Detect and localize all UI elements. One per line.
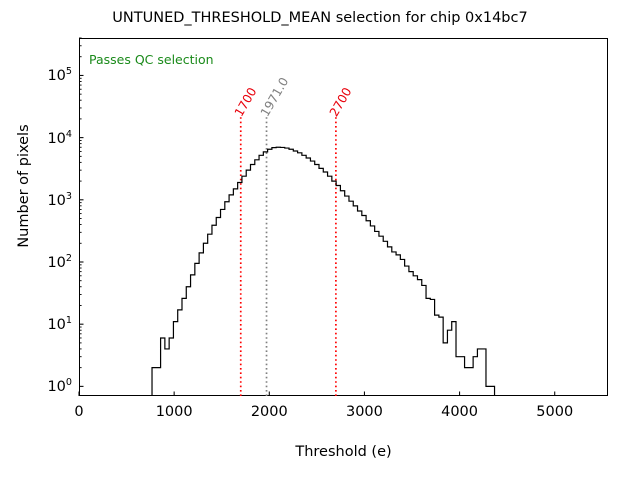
axis-ticks xyxy=(79,38,555,396)
histogram-step-line xyxy=(152,147,495,396)
x-tick-label: 4000 xyxy=(441,404,478,420)
y-tick-label: 103 xyxy=(47,191,72,209)
figure: UNTUNED_THRESHOLD_MEAN selection for chi… xyxy=(0,0,640,480)
y-tick-label: 102 xyxy=(47,253,72,271)
x-tick-label: 0 xyxy=(74,404,83,420)
y-tick-label: 104 xyxy=(47,129,72,147)
vertical-cut-lines xyxy=(241,116,336,396)
y-tick-label: 105 xyxy=(47,67,72,85)
x-tick-label: 5000 xyxy=(536,404,573,420)
x-tick-label: 1000 xyxy=(156,404,193,420)
y-tick-label: 100 xyxy=(47,377,72,395)
y-tick-label: 101 xyxy=(47,315,72,333)
x-tick-label: 3000 xyxy=(346,404,383,420)
x-tick-label: 2000 xyxy=(251,404,288,420)
qc-selection-note: Passes QC selection xyxy=(89,52,214,67)
